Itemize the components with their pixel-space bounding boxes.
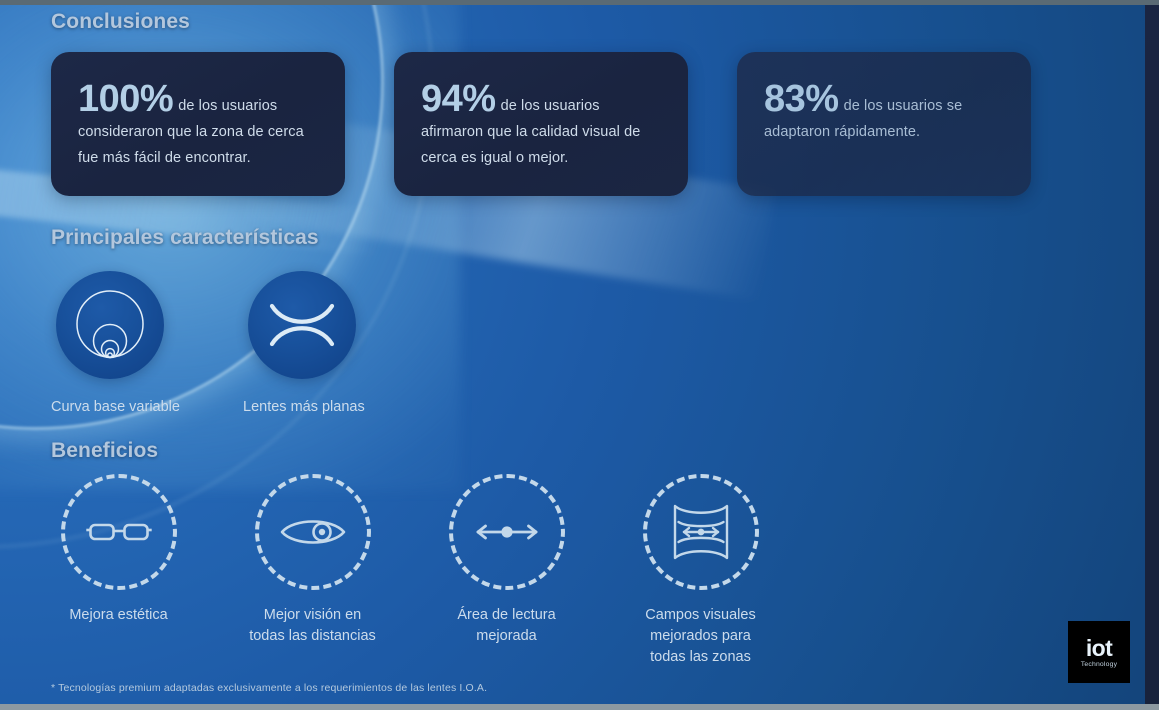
feature-icon-container <box>248 271 356 379</box>
benefit-item-campos-visuales: Campos visuales mejorados para todas las… <box>633 474 768 668</box>
stat-card-text: 83%de los usuarios se adaptaron rápidame… <box>764 86 1004 145</box>
iot-technology-logo: iot Technology <box>1068 621 1130 683</box>
benefit-label: Campos visuales mejorados para todas las… <box>633 605 768 668</box>
feature-icon-container <box>56 271 164 379</box>
window-bottom-strip <box>0 704 1159 710</box>
window-top-strip <box>0 0 1159 5</box>
feature-item-lentes-mas-planas: Lentes más planas <box>243 271 361 417</box>
feature-label: Curva base variable <box>51 397 169 417</box>
benefit-label: Área de lectura mejorada <box>439 605 574 647</box>
benefit-item-area-lectura: Área de lectura mejorada <box>439 474 574 668</box>
slide-canvas: Conclusiones 100%de los usuarios conside… <box>0 0 1159 710</box>
features-row: Curva base variable Lentes más planas <box>51 271 361 417</box>
stat-card-row: 100%de los usuarios consideraron que la … <box>51 52 1031 196</box>
benefit-label: Mejor visión en todas las distancias <box>245 605 380 647</box>
stat-percent: 100% <box>78 78 173 120</box>
section-title-conclusiones: Conclusiones <box>51 10 190 34</box>
stat-card-text: 94%de los usuarios afirmaron que la cali… <box>421 86 661 171</box>
stat-card: 100%de los usuarios consideraron que la … <box>51 52 345 196</box>
benefit-label: Mejora estética <box>51 605 186 626</box>
flat-lens-profile-icon <box>259 282 345 368</box>
section-title-principales-caracteristicas: Principales características <box>51 226 319 250</box>
benefit-icon-ring <box>255 474 371 590</box>
logo-subtitle: Technology <box>1081 661 1117 668</box>
section-title-beneficios: Beneficios <box>51 439 158 463</box>
stat-percent: 94% <box>421 78 496 120</box>
slide-content: Conclusiones 100%de los usuarios conside… <box>0 0 1159 710</box>
stat-card-text: 100%de los usuarios consideraron que la … <box>78 86 318 171</box>
benefit-icon-ring <box>449 474 565 590</box>
nested-circles-icon <box>67 282 153 368</box>
stat-card: 83%de los usuarios se adaptaron rápidame… <box>737 52 1031 196</box>
horizontal-double-arrow-icon <box>469 517 545 547</box>
visual-field-frame-icon <box>669 502 733 562</box>
benefit-icon-ring <box>643 474 759 590</box>
benefit-item-mejora-estetica: Mejora estética <box>51 474 186 668</box>
eye-icon <box>278 512 348 552</box>
logo-wordmark: iot <box>1086 636 1112 660</box>
benefits-row: Mejora estética Mejor visión en todas la… <box>51 474 768 668</box>
window-right-strip <box>1145 5 1159 704</box>
benefit-icon-ring <box>61 474 177 590</box>
eyeglasses-icon <box>84 512 154 552</box>
feature-label: Lentes más planas <box>243 397 361 417</box>
footnote-text: * Tecnologías premium adaptadas exclusiv… <box>51 682 487 694</box>
benefit-item-mejor-vision: Mejor visión en todas las distancias <box>245 474 380 668</box>
stat-card: 94%de los usuarios afirmaron que la cali… <box>394 52 688 196</box>
feature-item-curva-base-variable: Curva base variable <box>51 271 169 417</box>
stat-percent: 83% <box>764 78 839 120</box>
